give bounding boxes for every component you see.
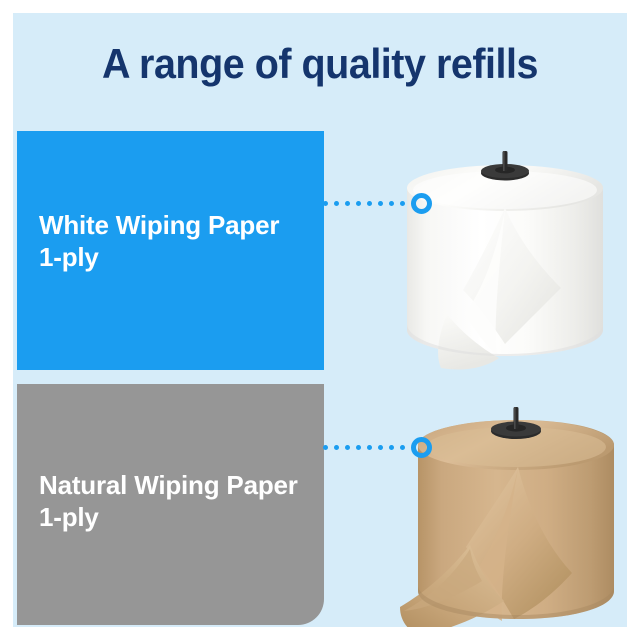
callout-ring-icon[interactable]: [411, 437, 432, 458]
connector-dot: [367, 201, 372, 206]
page-title: A range of quality refills: [31, 39, 608, 89]
connector-dot: [400, 445, 405, 450]
product-label-white-wiping-paper: White Wiping Paper 1-ply: [39, 209, 279, 273]
connector-dot: [345, 445, 350, 450]
product-label-natural-wiping-paper: Natural Wiping Paper 1-ply: [39, 469, 298, 533]
connector-dot: [378, 445, 383, 450]
connector-dot: [378, 201, 383, 206]
callout-connector-natural-wiping-paper: [323, 436, 432, 458]
connector-dot: [334, 201, 339, 206]
callout-ring-icon[interactable]: [411, 193, 432, 214]
connector-dot: [367, 445, 372, 450]
callout-connector-white-wiping-paper: [323, 192, 432, 214]
connector-dot: [334, 445, 339, 450]
dotted-line-icon: [323, 445, 405, 450]
connector-dot: [356, 201, 361, 206]
connector-dot: [389, 445, 394, 450]
content-canvas: A range of quality refills: [13, 13, 627, 627]
connector-dot: [323, 201, 328, 206]
connector-dot: [356, 445, 361, 450]
connector-dot: [389, 201, 394, 206]
product-image-natural-wiping-paper: [396, 395, 618, 627]
dotted-line-icon: [323, 201, 405, 206]
connector-dot: [400, 201, 405, 206]
product-image-white-wiping-paper: [401, 148, 609, 373]
infographic-page: A range of quality refills: [0, 0, 640, 640]
connector-dot: [323, 445, 328, 450]
product-panel-white-wiping-paper[interactable]: White Wiping Paper 1-ply: [17, 131, 324, 370]
product-panel-natural-wiping-paper[interactable]: Natural Wiping Paper 1-ply: [17, 384, 324, 625]
connector-dot: [345, 201, 350, 206]
